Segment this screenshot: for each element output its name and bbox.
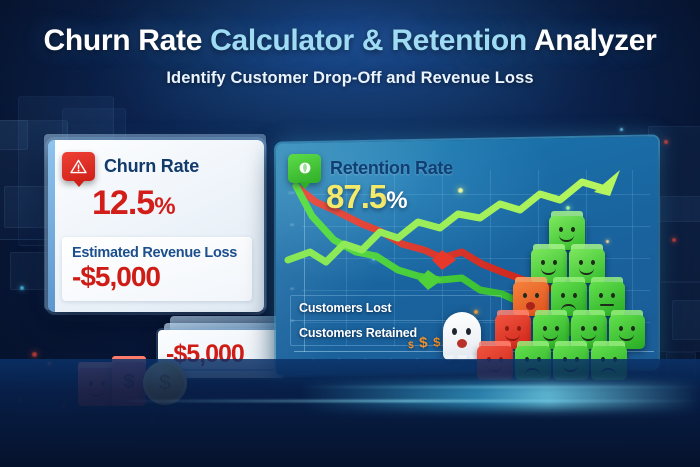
retention-rate-percent: %	[386, 187, 406, 214]
revenue-loss-label: Estimated Revenue Loss	[72, 245, 242, 261]
warning-triangle-icon	[62, 152, 95, 181]
ghost-icon	[443, 312, 481, 360]
dollar-glyph: $	[408, 340, 415, 351]
churn-rate-number: 12.5	[92, 184, 154, 222]
churn-rate-block: Churn Rate 12.5%	[62, 152, 252, 220]
retention-rate-label: Retention Rate	[330, 158, 453, 179]
dollar-glyph: $	[419, 334, 430, 352]
dollar-glyph: $	[433, 334, 442, 350]
ghost-eye-right	[466, 328, 471, 335]
churn-badge-row: Churn Rate	[62, 152, 252, 181]
churn-rate-value: 12.5%	[92, 186, 252, 220]
floor-reflection	[0, 359, 700, 467]
churn-rate-percent: %	[154, 193, 174, 220]
ghost-body	[443, 312, 481, 360]
revenue-loss-block: Estimated Revenue Loss -$5,000	[62, 237, 252, 301]
retention-rate-number: 87.5	[326, 178, 386, 215]
revenue-loss-value: -$5,000	[72, 263, 242, 291]
retention-bubble-icon	[288, 154, 321, 183]
title-segment-calculator: Calculator	[210, 24, 362, 57]
customer-sentiment-pyramid	[487, 216, 647, 374]
ghost-mouth	[457, 339, 467, 348]
retention-rate-value: 87.5%	[326, 180, 407, 213]
page-subtitle: Identify Customer Drop-Off and Revenue L…	[0, 69, 700, 88]
series-trend-arrowhead	[594, 170, 620, 196]
floor-line	[300, 386, 700, 388]
header-block: Churn Rate Calculator & Retention Analyz…	[0, 24, 700, 88]
poster-stage: Churn Rate Calculator & Retention Analyz…	[0, 0, 700, 467]
ghost-eye-left	[452, 328, 457, 335]
churn-metrics-card: Churn Rate 12.5% Estimated Revenue Loss …	[48, 140, 264, 312]
series-retained-marker	[418, 270, 442, 290]
title-segment-churn: Churn Rate	[43, 24, 210, 57]
title-segment-analyzer: Analyzer	[534, 24, 657, 57]
title-segment-retention: & Retention	[362, 24, 534, 57]
churn-rate-label: Churn Rate	[104, 156, 199, 177]
floor-line	[120, 400, 700, 402]
page-title: Churn Rate Calculator & Retention Analyz…	[0, 24, 700, 58]
